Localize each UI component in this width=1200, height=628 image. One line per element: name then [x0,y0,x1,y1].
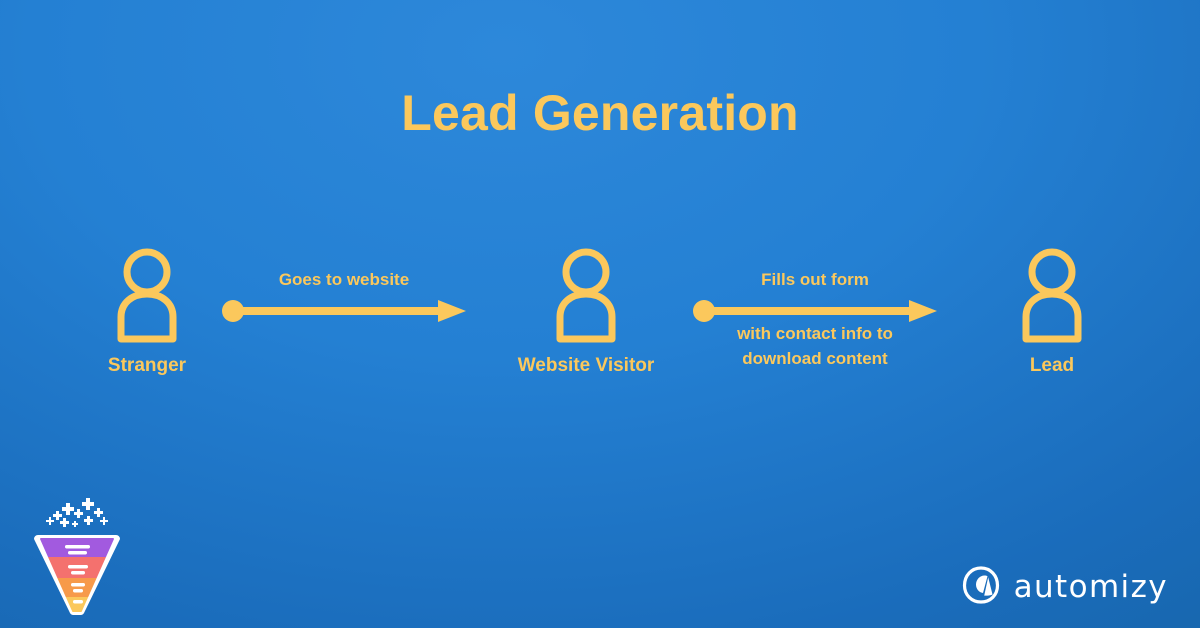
flow-stage-label: Lead [952,356,1152,377]
arrow-right-icon [222,300,466,322]
flow-connector-goes-to-website: Goes to website [222,300,466,322]
funnel-badge [22,487,132,617]
brand-wordmark: automizy [1014,572,1168,603]
flow-stage-label: Website Visitor [486,356,686,377]
flow-connector-label-above: Fills out form [683,268,947,293]
person-icon [952,245,1152,350]
page-title: Lead Generation [0,88,1200,138]
person-icon [47,245,247,350]
flow-stage-website-visitor: Website Visitor [486,245,686,377]
flow-connector-fills-out-form: Fills out form with contact info to down… [693,300,937,322]
brand-logo: automizy [961,565,1168,610]
slide-canvas: Lead Generation Stranger Goes to website… [0,0,1200,628]
funnel-icon [22,487,132,617]
flow-connector-label-below-line2: download content [663,347,967,372]
person-icon [486,245,686,350]
flow-stage-stranger: Stranger [47,245,247,377]
automizy-logo-icon [961,565,1001,610]
arrow-right-icon [693,300,937,322]
flow-connector-label-below: with contact info to download content [663,322,967,371]
flow-connector-label-above: Goes to website [212,268,476,293]
flow-stage-label: Stranger [47,356,247,377]
funnel-sparkles-icon [46,498,108,527]
flow-connector-label-below-line1: with contact info to [663,322,967,347]
flow-stage-lead: Lead [952,245,1152,377]
funnel-body-icon [32,535,124,617]
